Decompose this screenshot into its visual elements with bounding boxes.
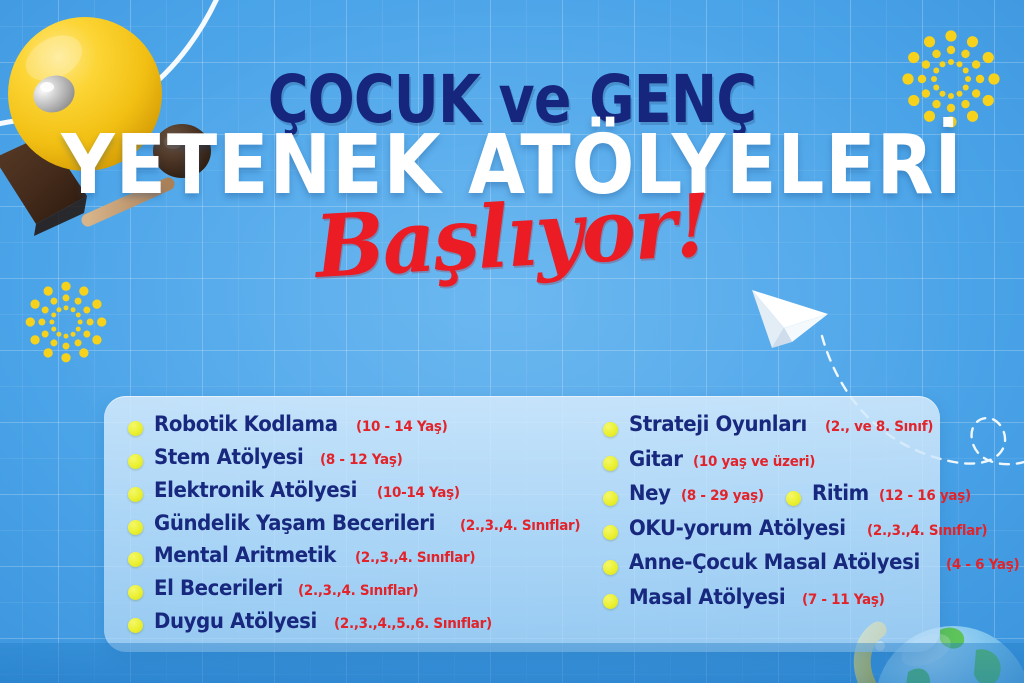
bullet-dot-icon [603,491,618,506]
top-left-props [0,8,232,238]
bullet-dot-icon [128,552,143,567]
bullet-dot-icon [786,491,801,506]
dot-burst-left [12,268,120,376]
workshop-list-panel: Robotik Kodlama (10 - 14 Yaş) Stem Atöly… [104,396,940,652]
white-swoosh-lines [0,0,320,210]
bullet-dot-icon [128,454,143,469]
workshop-name: Gündelik Yaşam Becerileri [154,511,435,535]
poster-canvas: ÇOCUK ve GENÇ YETENEK ATÖLYELERİ Başlıyo… [0,0,1024,683]
bullet-dot-icon [603,525,618,540]
workshop-age: (4 - 6 Yaş) [946,557,1019,573]
workshop-name: Strateji Oyunları [629,412,807,436]
workshop-name: OKU-yorum Atölyesi [629,516,846,540]
list-item[interactable]: Strateji Oyunları (2., ve 8. Sınıf) [603,412,1024,447]
bullet-dot-icon [128,421,143,436]
headline-line-1: ÇOCUK ve GENÇ [82,68,942,131]
bullet-dot-icon [603,594,618,609]
workshop-age: (2.,3.,4. Sınıflar) [460,518,580,534]
workshop-age: (2.,3.,4. Sınıflar) [298,583,418,599]
headline-line-2: YETENEK ATÖLYELERİ [51,127,973,205]
workshop-age: (8 - 29 yaş) [681,488,764,504]
headline-line-3-script: Başlıyor! [24,159,1001,314]
workshop-name: Robotik Kodlama [154,412,338,436]
list-item[interactable]: Elektronik Atölyesi (10-14 Yaş) [128,478,589,511]
list-item[interactable]: Ney (8 - 29 yaş) Ritim (12 - 16 yaş) [603,481,1024,516]
bullet-dot-icon [128,487,143,502]
list-item[interactable]: Anne-Çocuk Masal Atölyesi (4 - 6 Yaş) [603,550,1024,585]
workshop-age-extra: (12 - 16 yaş) [879,488,971,504]
workshop-name-extra: Ritim [812,481,869,505]
bullet-dot-icon [128,520,143,535]
dot-burst-top-right [886,14,1016,144]
bullet-dot-icon [603,422,618,437]
workshop-age: (10 yaş ve üzeri) [693,454,815,470]
headline-word-cocuk: ÇOCUK [268,61,480,138]
list-item[interactable]: Mental Aritmetik (2.,3.,4. Sınıflar) [128,543,589,576]
workshop-age: (10-14 Yaş) [377,485,460,501]
workshop-name: Gitar [629,447,683,471]
bullet-dot-icon [128,618,143,633]
list-item[interactable]: Robotik Kodlama (10 - 14 Yaş) [128,412,589,445]
workshop-age: (10 - 14 Yaş) [356,419,448,435]
list-item[interactable]: Masal Atölyesi (7 - 11 Yaş) [603,585,1024,620]
workshop-column-left: Robotik Kodlama (10 - 14 Yaş) Stem Atöly… [104,412,589,642]
list-item[interactable]: OKU-yorum Atölyesi (2.,3.,4. Sınıflar) [603,516,1024,551]
workshop-age: (7 - 11 Yaş) [802,592,884,608]
workshop-column-right: Strateji Oyunları (2., ve 8. Sınıf) Gita… [589,412,1024,642]
list-item[interactable]: Duygu Atölyesi (2.,3.,4.,5.,6. Sınıflar) [128,609,589,642]
workshop-name: Anne-Çocuk Masal Atölyesi [629,550,920,574]
workshop-name: Masal Atölyesi [629,585,785,609]
workshop-age: (2., ve 8. Sınıf) [825,419,933,435]
list-item[interactable]: El Becerileri (2.,3.,4. Sınıflar) [128,576,589,609]
paper-plane-icon [752,290,828,348]
bullet-dot-icon [603,560,618,575]
workshop-name: Mental Aritmetik [154,543,336,567]
workshop-name: Stem Atölyesi [154,445,303,469]
workshop-age: (8 - 12 Yaş) [320,452,402,468]
list-item[interactable]: Gitar (10 yaş ve üzeri) [603,447,1024,482]
workshop-age: (2.,3.,4. Sınıflar) [355,550,475,566]
headline-word-ve: ve [499,61,571,138]
workshop-age: (2.,3.,4.,5.,6. Sınıflar) [334,616,492,632]
workshop-age: (2.,3.,4. Sınıflar) [867,523,987,539]
list-item[interactable]: Stem Atölyesi (8 - 12 Yaş) [128,445,589,478]
workshop-name: Elektronik Atölyesi [154,478,357,502]
workshop-name: Ney [629,481,671,505]
bullet-dot-icon [128,585,143,600]
headline-word-genc: GENÇ [589,61,756,138]
workshop-name: El Becerileri [154,576,283,600]
list-item[interactable]: Gündelik Yaşam Becerileri (2.,3.,4. Sını… [128,511,589,544]
workshop-name: Duygu Atölyesi [154,609,317,633]
headline-block: ÇOCUK ve GENÇ YETENEK ATÖLYELERİ Başlıyo… [0,68,1024,205]
bullet-dot-icon [603,456,618,471]
